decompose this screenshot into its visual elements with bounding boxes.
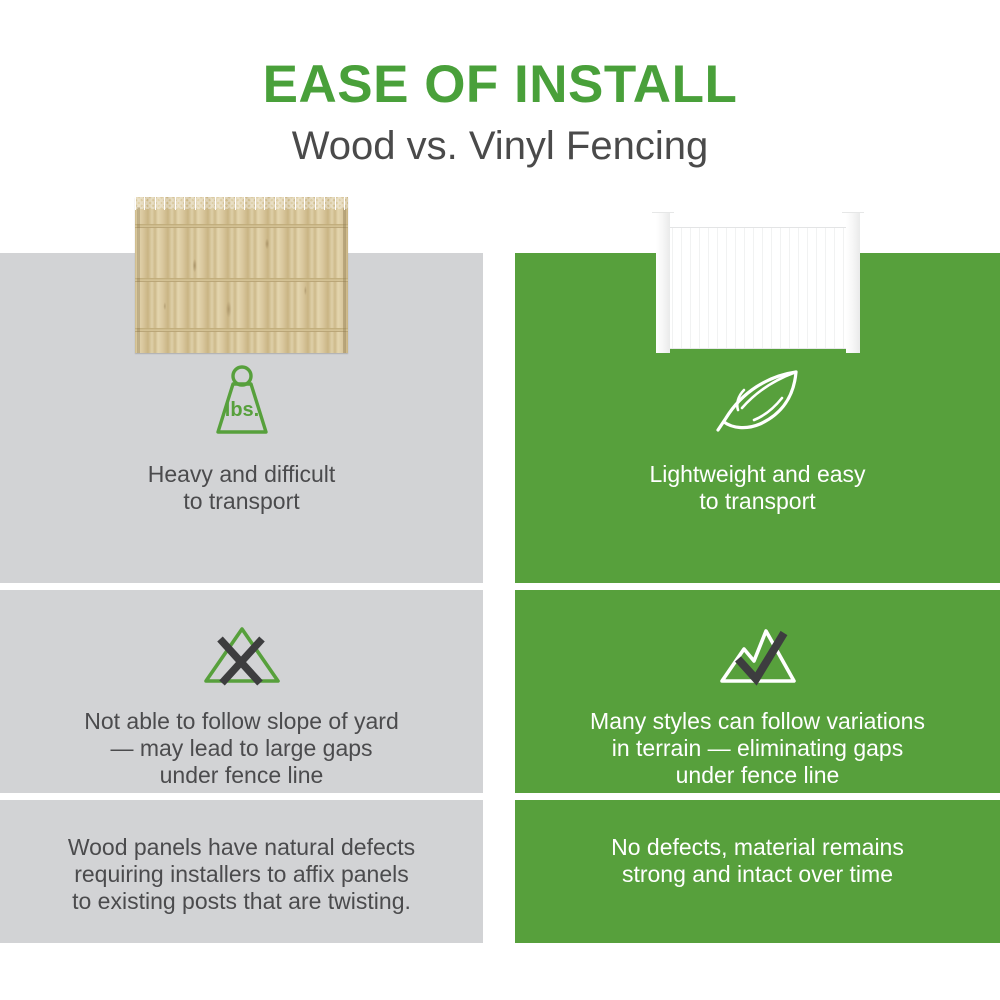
comparison-columns: lbs. Heavy and difficult to transport No… [0,253,1000,943]
vinyl-row-2: Many styles can follow variations in ter… [515,590,1000,793]
wood-row-3: Wood panels have natural defects requiri… [0,800,483,943]
wood-column: lbs. Heavy and difficult to transport No… [0,253,483,943]
wood-post-left [137,207,140,353]
vinyl-post-right [846,209,860,353]
wood-grain-texture [135,197,348,353]
wood-post-right [343,207,346,353]
vinyl-post-cap-left [652,202,674,212]
vinyl-row-1-caption: Lightweight and easy to transport [625,461,889,515]
vinyl-fence-photo [515,188,1000,353]
feather-leaf-icon-wrap [708,363,808,441]
wood-fence-photo [0,188,483,353]
vinyl-row-3-caption: No defects, material remains strong and … [587,834,928,888]
weight-lbs-icon: lbs. [206,364,278,440]
wood-row-3-caption: Wood panels have natural defects requiri… [44,834,439,915]
ease-of-install-infographic: EASE OF INSTALL Wood vs. Vinyl Fencing [0,0,1000,1000]
wood-row-2: Not able to follow slope of yard — may l… [0,590,483,793]
wood-rail-middle [135,278,348,282]
vinyl-panel [663,217,853,349]
triangle-with-x-icon-wrap [192,620,292,690]
vinyl-row-1: Lightweight and easy to transport [515,253,1000,583]
terrain-with-check-icon [714,623,802,687]
vinyl-row-3: No defects, material remains strong and … [515,800,1000,943]
vinyl-fence-graphic [650,197,866,353]
vinyl-post-cap-right [842,202,864,212]
wood-row-1: lbs. Heavy and difficult to transport [0,253,483,583]
wood-dog-ear-mask [135,197,348,209]
wood-fence-graphic [135,197,348,353]
page-subtitle: Wood vs. Vinyl Fencing [0,111,1000,166]
triangle-with-x-icon [200,623,284,687]
vinyl-post-left [656,209,670,353]
wood-rail-top [135,224,348,228]
weight-icon-label: lbs. [224,399,258,421]
vinyl-column: Lightweight and easy to transport Many s… [515,253,1000,943]
weight-lbs-icon-wrap: lbs. [192,363,292,441]
vinyl-row-2-caption: Many styles can follow variations in ter… [566,708,949,789]
feather-leaf-icon [708,366,808,438]
wood-row-2-caption: Not able to follow slope of yard — may l… [60,708,423,789]
page-title: EASE OF INSTALL [0,0,1000,111]
wood-picket-tops [135,197,348,210]
terrain-with-check-icon-wrap [708,620,808,690]
wood-row-1-caption: Heavy and difficult to transport [124,461,360,515]
header: EASE OF INSTALL Wood vs. Vinyl Fencing [0,0,1000,190]
vinyl-top-rail [663,217,853,228]
wood-rail-bottom [135,328,348,332]
